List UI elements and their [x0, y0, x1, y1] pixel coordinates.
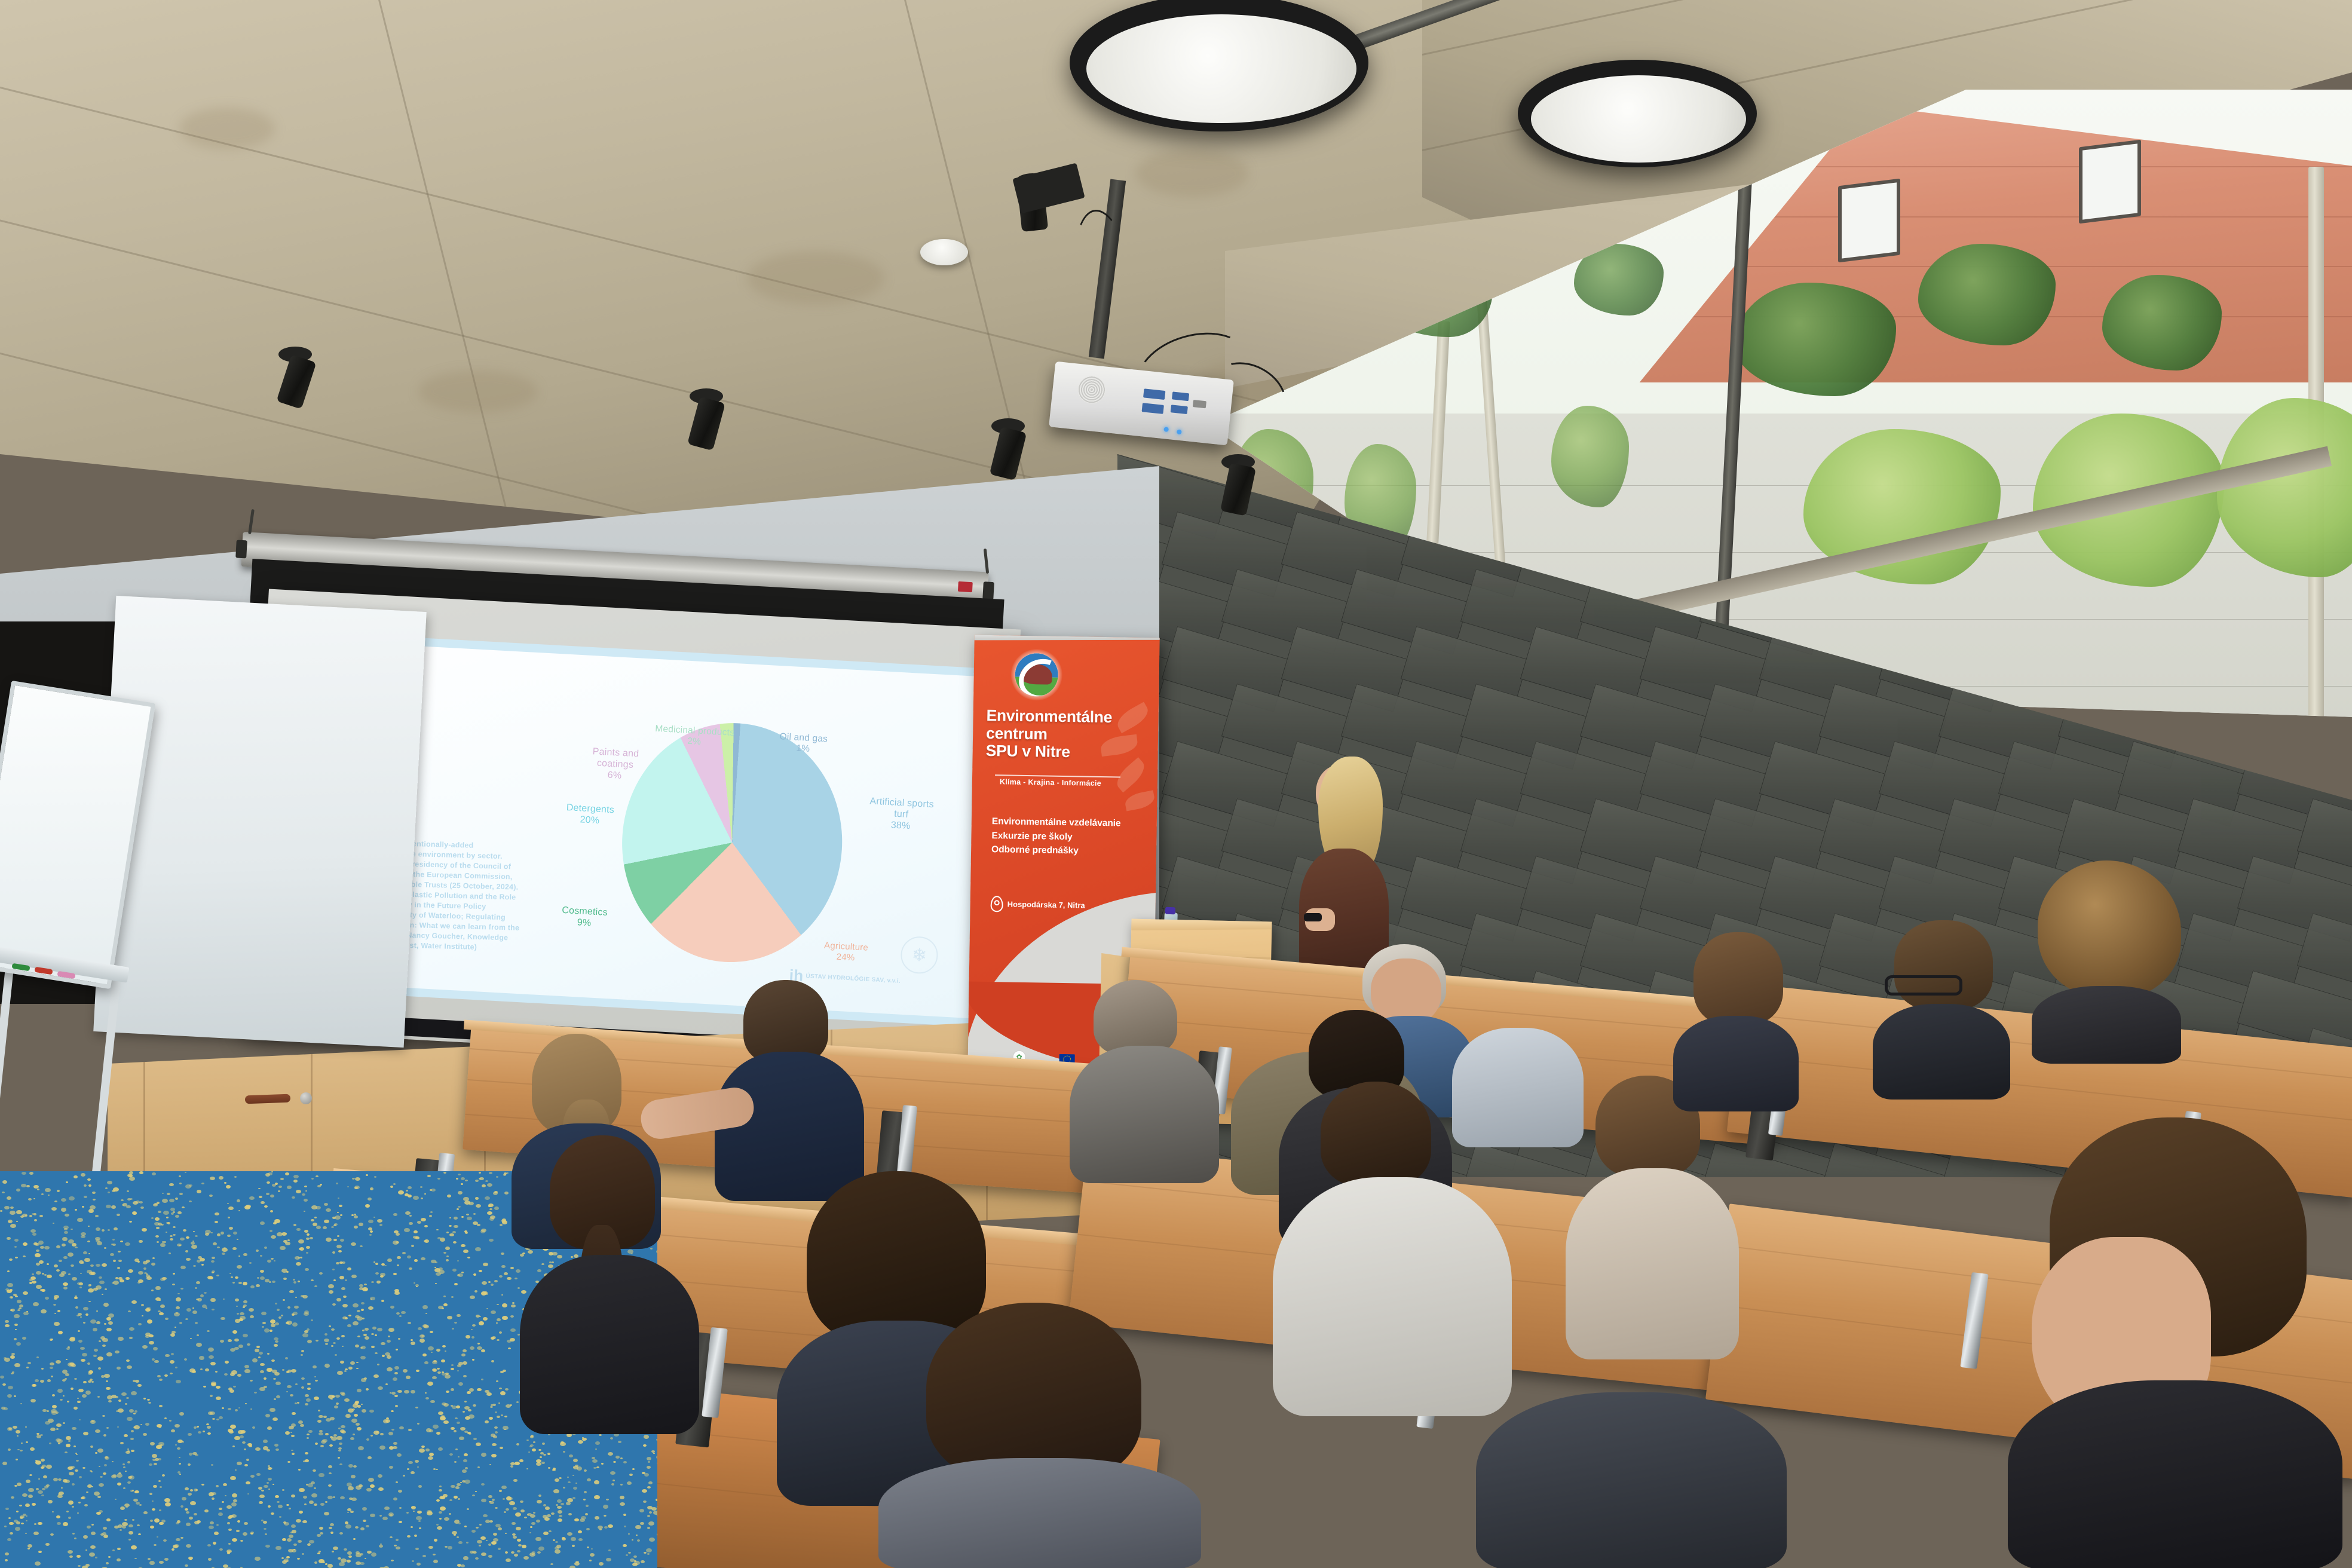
audience-member — [1996, 1117, 2352, 1568]
projector-vent-icon — [1077, 375, 1107, 405]
audience-torso — [1070, 1046, 1219, 1183]
wall-whiteboard[interactable] — [93, 596, 426, 1048]
audience-torso — [2032, 986, 2181, 1064]
pie-label-oil-and-gas: Oil and gas 1% — [764, 731, 843, 757]
pie-label-agriculture: Agriculture 24% — [807, 939, 886, 964]
pie-label-artificial-sports-turf: Artificial sports turf 38% — [862, 796, 941, 834]
lecture-hall-photo: Annual release of intentionally-added mi… — [0, 0, 2352, 1568]
audience-hair — [1094, 980, 1177, 1055]
audience-hair — [743, 980, 828, 1064]
pie-label-paints-and-coatings: Paints and coatings 6% — [577, 746, 654, 783]
audience-hair — [926, 1303, 1141, 1482]
audience-member — [1864, 920, 2032, 1100]
presentation-clicker[interactable] — [1304, 913, 1322, 921]
screen-hook — [248, 509, 255, 534]
audience-torso — [1452, 1028, 1584, 1147]
audience-member — [2014, 860, 2211, 1058]
audience-torso — [878, 1458, 1201, 1568]
audience-torso — [1566, 1168, 1739, 1359]
banner-title: Environmentálne centrum SPU v Nitre — [985, 707, 1153, 762]
eyeglasses-icon — [1885, 975, 1962, 996]
pie-label-detergents: Detergents 20% — [550, 802, 629, 829]
audience-hair-bun — [1693, 932, 1783, 1025]
sav-institute-logo: ❄ — [900, 936, 939, 975]
audience-hair — [1321, 1082, 1431, 1186]
audience-torso — [1476, 1392, 1787, 1568]
environmental-centre-logo-icon — [1010, 649, 1062, 701]
audience-hair — [1894, 920, 1993, 1010]
banner-subtitle: Klíma - Krajina - Informácie — [1000, 777, 1149, 788]
skylight-window — [2079, 140, 2141, 224]
cabinet-lock[interactable] — [300, 1092, 312, 1104]
skylight-window — [1838, 178, 1900, 262]
audience-hoodie — [1273, 1177, 1512, 1416]
banner-service-item: Odborné prednášky — [991, 843, 1153, 859]
smoke-detector — [920, 239, 968, 265]
audience-member — [1476, 1392, 1787, 1568]
audience-member — [860, 1303, 1219, 1568]
audience-member — [1452, 1004, 1590, 1147]
banner-address-text: Hospodárska 7, Nitra — [1007, 900, 1085, 910]
pendant-light — [1518, 60, 1757, 167]
pendant-light — [1070, 0, 1368, 131]
banner-services-list: Environmentálne vzdelávanie Exkurzie pre… — [991, 814, 1153, 859]
audience-member — [526, 1135, 729, 1434]
audience-torso — [1673, 1016, 1799, 1111]
audience-torso — [520, 1255, 699, 1434]
audience-member — [1070, 980, 1249, 1183]
screen-brand-logo — [958, 581, 973, 592]
bottle-cap — [1165, 907, 1175, 915]
audience-torso — [2008, 1380, 2342, 1568]
audience-torso — [1873, 1004, 2010, 1100]
banner-address: Hospodárska 7, Nitra — [990, 896, 1085, 913]
location-pin-icon — [990, 896, 1003, 912]
pie-label-cosmetics: Cosmetics 9% — [545, 904, 624, 931]
audience-hair-curly — [2038, 860, 2181, 998]
audience-member — [1667, 932, 1817, 1111]
cabinet-handle[interactable] — [245, 1094, 290, 1104]
